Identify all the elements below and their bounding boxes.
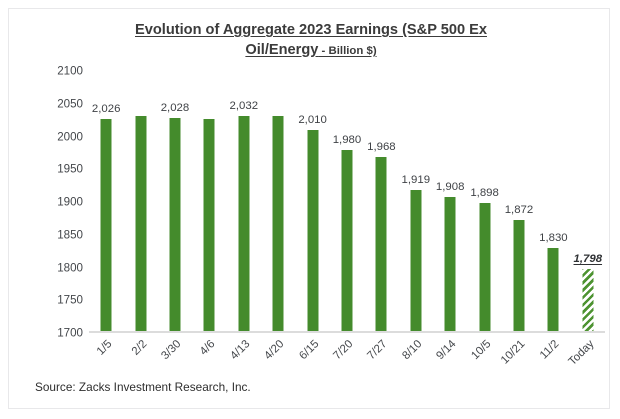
bar-value-label: 1,872 [505,204,534,216]
source-note: Source: Zacks Investment Research, Inc. [35,380,251,394]
bar-value-label: 1,798 [574,253,603,265]
bar[interactable] [273,116,284,333]
bar-group: 1,83011/2 [536,71,570,333]
bar-group: 1,9807/20 [330,71,364,333]
bar-group: 1,798Today [571,71,605,333]
bar[interactable] [169,118,180,333]
chart-axis-area: 210020502000195019001850180017501700 2,0… [89,71,605,333]
x-axis-tick: 7/27 [366,338,390,362]
bar-value-label: 1,908 [436,181,465,193]
x-axis-tick: 4/6 [198,338,218,358]
bar-value-label: 2,028 [161,102,190,114]
bar-group: 2/2 [123,71,157,333]
bar-group: 1,9687/27 [364,71,398,333]
bar-group: 4/20 [261,71,295,333]
x-axis-tick: 6/15 [297,338,321,362]
x-axis-tick: 2/2 [129,338,149,358]
bar[interactable] [204,119,215,333]
x-axis-tick: 10/5 [469,338,493,362]
bar-value-label: 2,010 [298,114,327,126]
bar-group: 1,87210/21 [502,71,536,333]
bar[interactable] [238,116,249,333]
y-axis-tick: 1750 [57,294,83,307]
title-line-2-main: Oil/Energy [245,42,318,58]
bar-value-label: 2,032 [230,100,259,112]
x-axis-tick: 1/5 [95,338,115,358]
bar[interactable] [341,150,352,333]
x-axis-tick: Today [566,338,596,368]
title-line-2-units: - Billion $) [318,45,376,57]
y-axis-tick: 1950 [57,163,83,176]
bar-group: 4/6 [192,71,226,333]
x-axis-line [89,331,605,333]
x-axis-tick: 8/10 [400,338,424,362]
x-axis-tick: 4/13 [228,338,252,362]
y-axis-tick: 1800 [57,261,83,274]
bar[interactable] [410,190,421,333]
x-axis-tick: 11/2 [538,338,562,362]
bar-value-label: 1,898 [470,187,499,199]
chart-card: Evolution of Aggregate 2023 Earnings (S&… [8,8,610,409]
bar-value-label: 2,026 [92,103,121,115]
title-line-2: Oil/Energy - Billion $) [49,40,573,60]
bar-group: 2,0283/30 [158,71,192,333]
y-axis-tick: 1700 [57,327,83,340]
y-axis-tick: 2000 [57,130,83,143]
bar[interactable] [513,220,524,333]
y-axis-tick: 1900 [57,196,83,209]
bar[interactable] [101,119,112,333]
bar[interactable] [445,197,456,333]
bar-group: 2,0324/13 [227,71,261,333]
bar-value-label: 1,919 [402,174,431,186]
bar-value-label: 1,980 [333,134,362,146]
x-axis-tick: 3/30 [159,338,183,362]
bar-group: 2,0106/15 [295,71,329,333]
bar-group: 1,9198/10 [399,71,433,333]
bar-value-label: 1,830 [539,232,568,244]
page-title: Evolution of Aggregate 2023 Earnings (S&… [49,21,573,60]
x-axis-tick: 9/14 [435,338,459,362]
bar[interactable] [135,116,146,333]
bar[interactable] [479,203,490,333]
y-axis-tick: 2100 [57,65,83,78]
bar[interactable] [548,248,559,333]
bar-value-label: 1,968 [367,141,396,153]
bar-group: 1,9089/14 [433,71,467,333]
bar[interactable] [307,130,318,333]
x-axis-tick: 4/20 [263,338,287,362]
y-axis-tick: 2050 [57,97,83,110]
bar-group: 1,89810/5 [467,71,501,333]
chart-plot: 210020502000195019001850180017501700 2,0… [49,71,605,333]
title-line-1: Evolution of Aggregate 2023 Earnings (S&… [49,21,573,40]
bar[interactable] [376,157,387,333]
bar-group: 2,0261/5 [89,71,123,333]
x-axis-tick: 7/20 [331,338,355,362]
x-axis-tick: 10/21 [499,338,528,367]
bar-today-projected[interactable] [582,269,593,333]
y-axis-tick: 1850 [57,228,83,241]
